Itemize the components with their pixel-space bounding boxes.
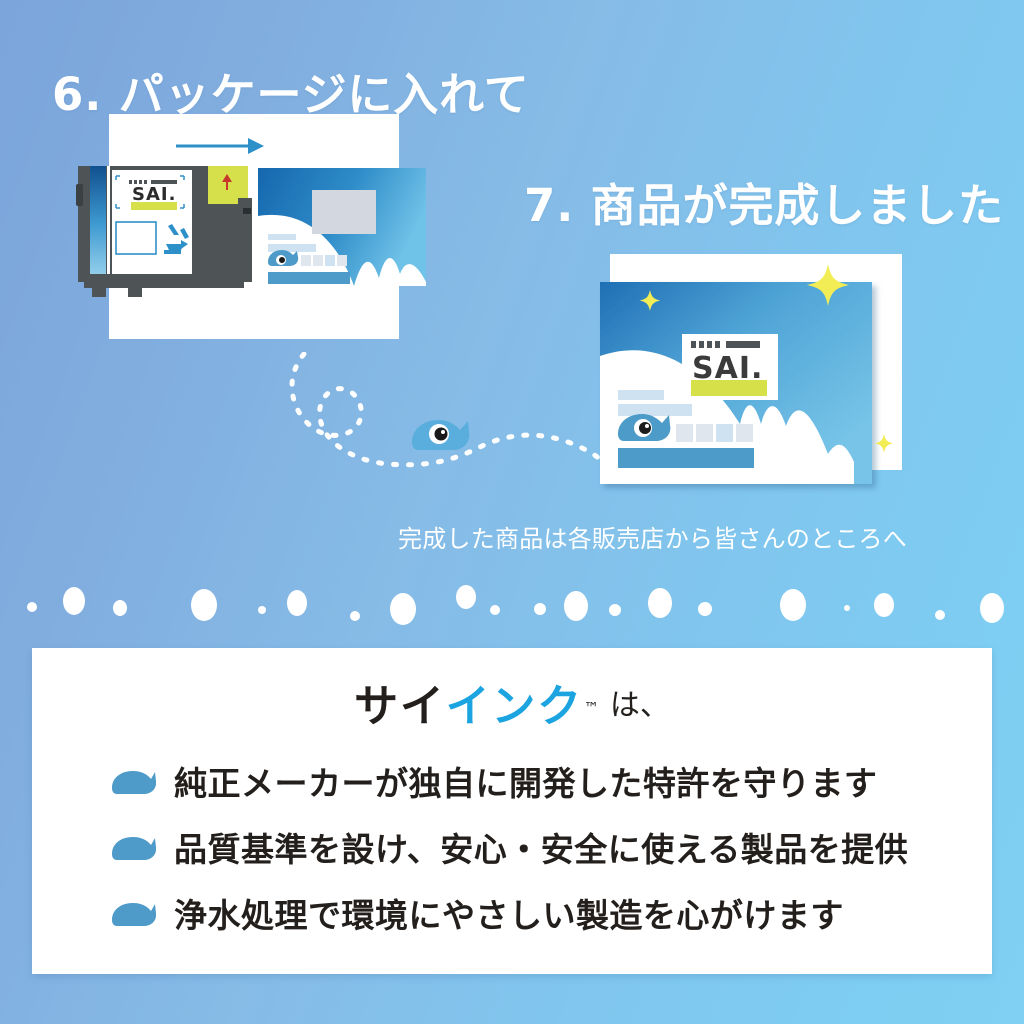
distribution-caption: 完成した商品は各販売店から皆さんのところへ [398,519,907,554]
list-item: 純正メーカーが独自に開発した特許を守ります [110,748,962,814]
dot-icon [980,593,1004,623]
dashed-trail-icon [292,354,612,474]
package-box [258,168,426,286]
rhino-bullet-icon [110,832,156,862]
rhino-bullet-icon [110,766,156,796]
mascot-trail-illustration [286,352,616,497]
dot-icon [287,590,307,616]
dot-icon [780,589,806,621]
dot-icon [935,610,945,620]
dot-icon [456,585,476,609]
dot-icon [648,588,672,618]
dot-icon [63,587,85,615]
dot-icon [350,611,360,621]
package-illustration: SAI. [76,112,428,344]
infographic-page: 6. パッケージに入れて [0,0,1024,1024]
list-item-label: 浄水処理で環境にやさしい製造を心がけます [174,889,844,937]
product-label: SAI. [682,334,778,400]
dot-icon [258,606,266,614]
product-box: SAI. [600,282,872,484]
brand-name-dark: サイ [354,681,446,732]
dot-icon [191,589,217,621]
dot-divider [0,575,1024,631]
dot-icon [534,603,546,615]
list-item-label: 品質基準を設け、安心・安全に使える製品を提供 [174,823,908,871]
product-illustration: SAI. [588,248,916,510]
brand-name-blue: インク [446,681,583,732]
rhino-mascot-icon [412,420,469,450]
dot-icon [874,593,894,617]
dot-icon [390,593,416,625]
dot-icon [698,602,712,616]
list-item-label: 純正メーカーが独自に開発した特許を守ります [174,757,877,805]
step7-heading: 7. 商品が完成しました [524,169,1004,234]
brand-suffix: は、 [610,688,670,723]
dot-icon [609,604,621,616]
trademark-symbol: ™ [584,699,599,717]
list-item: 浄水処理で環境にやさしい製造を心がけます [110,880,962,946]
svg-text:SAI.: SAI. [132,184,176,205]
rhino-bullet-icon [110,898,156,928]
dot-icon [490,605,500,615]
dot-icon [564,591,588,621]
info-card: サイインク™は、 純正メーカーが独自に開発した特許を守ります 品質基準を設け、安… [32,648,992,974]
brand-line: サイインク™は、 [32,670,992,734]
dot-icon [27,602,37,612]
dot-icon [113,600,127,616]
benefit-list: 純正メーカーが独自に開発した特許を守ります 品質基準を設け、安心・安全に使える製… [110,748,962,946]
dot-icon [844,605,850,611]
list-item: 品質基準を設け、安心・安全に使える製品を提供 [110,814,962,880]
